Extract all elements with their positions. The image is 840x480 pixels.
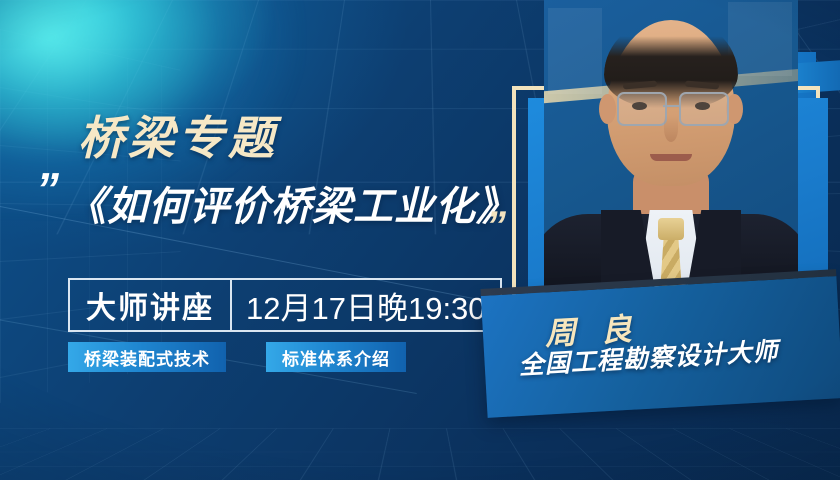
vignette-overlay [0, 0, 840, 480]
webinar-poster: 桥梁专题 ” 《如何评价桥梁工业化》 ” 大师讲座 12月17日晚19:30 桥… [0, 0, 840, 480]
